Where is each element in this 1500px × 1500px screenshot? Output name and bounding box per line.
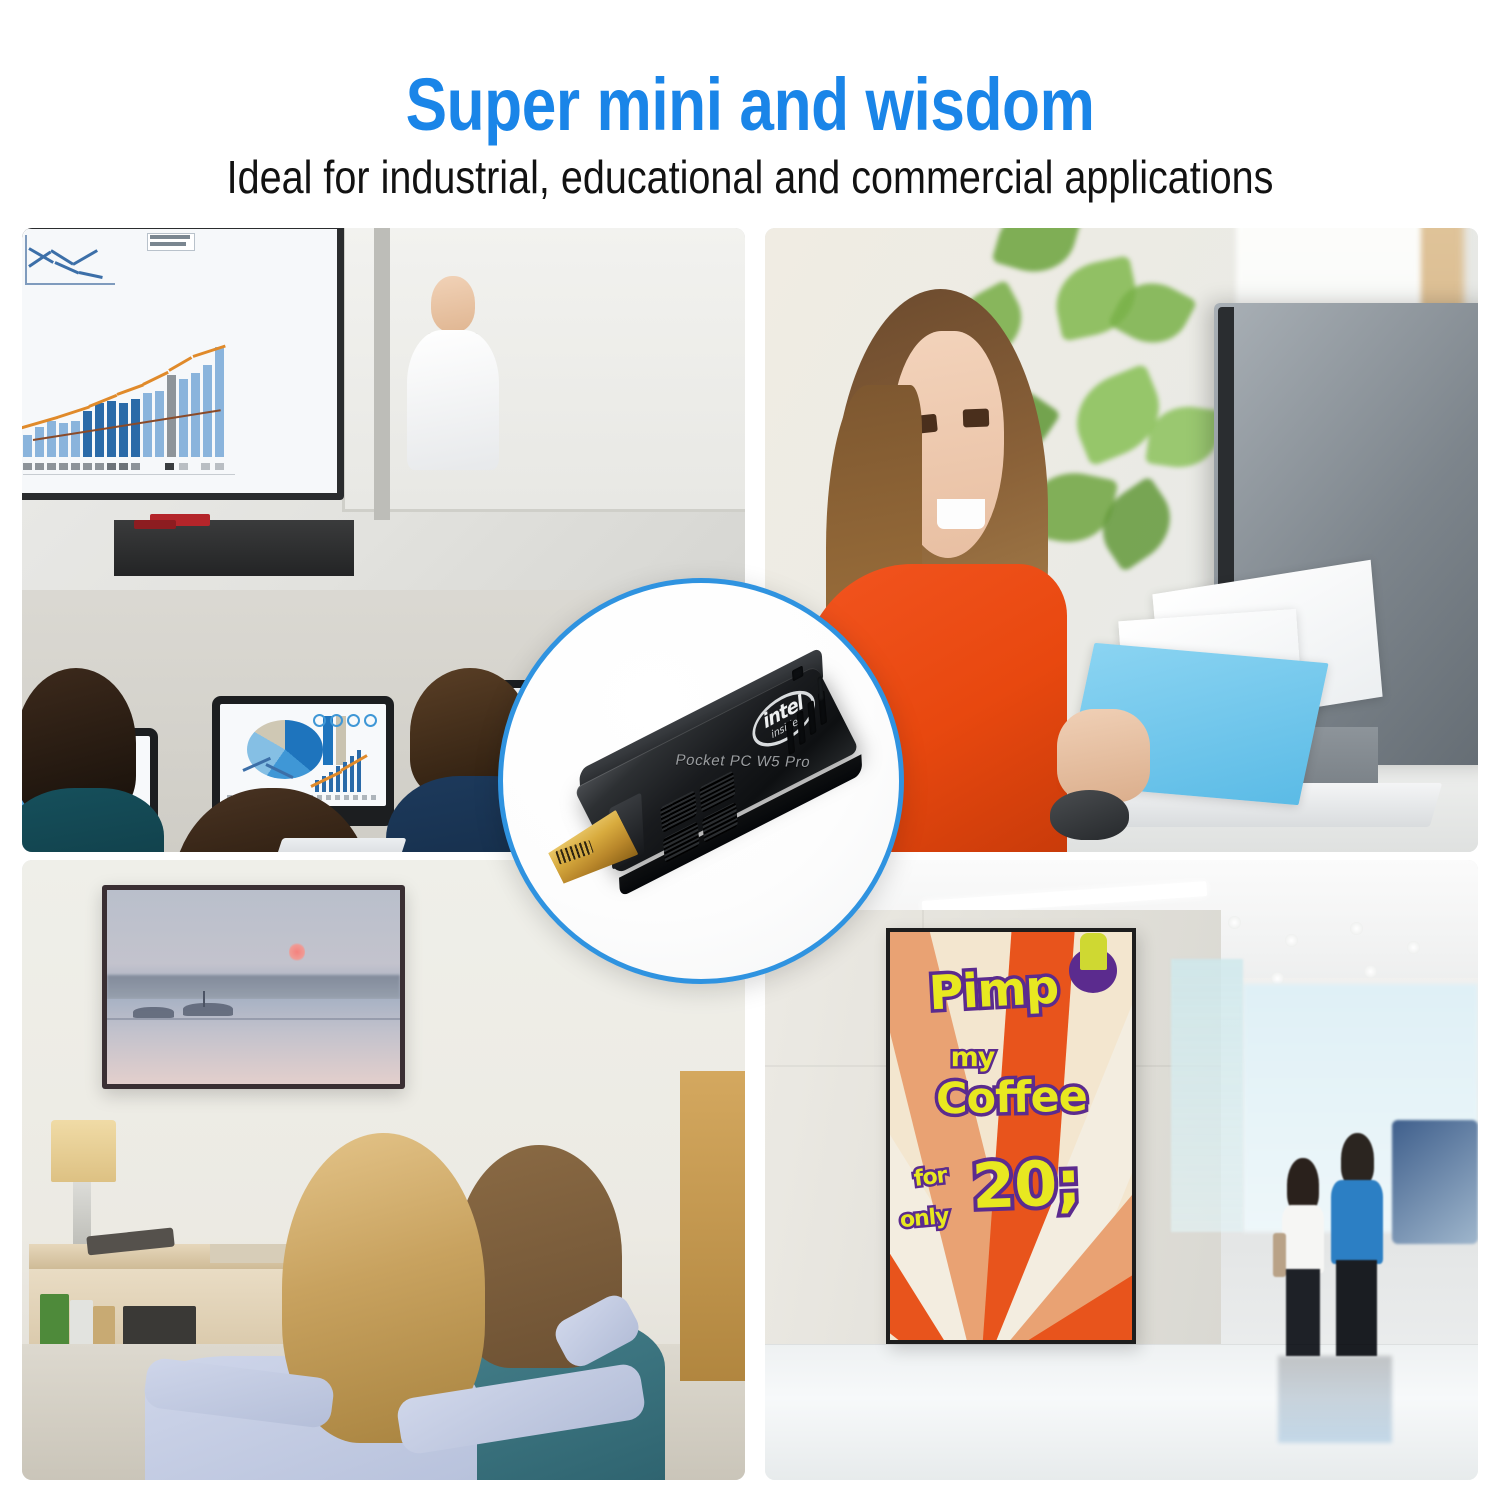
page-subtitle: Ideal for industrial, educational and co…	[105, 150, 1395, 204]
office-mouse	[1050, 790, 1128, 840]
scene-mall: Pimp my Coffee for only 20;	[765, 860, 1478, 1480]
header: Super mini and wisdom Ideal for industri…	[0, 0, 1500, 222]
page-title: Super mini and wisdom	[120, 62, 1380, 147]
digital-signage-poster: Pimp my Coffee for only 20;	[886, 928, 1136, 1343]
mall-shopper	[1278, 1158, 1328, 1356]
wall-chart	[22, 229, 337, 493]
classroom-wall-display	[22, 228, 344, 500]
product-model-label: Pocket PC W5 Pro	[674, 752, 812, 771]
poster-line-1: Pimp	[928, 965, 1059, 1015]
product-highlight-circle: intel inside Pocket PC W5 Pro	[498, 578, 904, 984]
poster-price: 20;	[971, 1154, 1081, 1215]
poster-line-4a: for	[913, 1167, 948, 1191]
poster-line-3: Coffee	[936, 1078, 1088, 1120]
poster-line-4b: only	[899, 1207, 949, 1231]
product-marketing-page: Super mini and wisdom Ideal for industri…	[0, 0, 1500, 1500]
teacher-figure	[397, 276, 507, 506]
mall-shopper	[1328, 1133, 1385, 1356]
pocket-pc-stick: intel inside Pocket PC W5 Pro	[520, 639, 882, 922]
coffee-cup-icon	[1069, 948, 1117, 993]
poster-line-2: my	[951, 1046, 995, 1071]
panel-advertising-signage: Pimp my Coffee for only 20;	[765, 860, 1478, 1480]
